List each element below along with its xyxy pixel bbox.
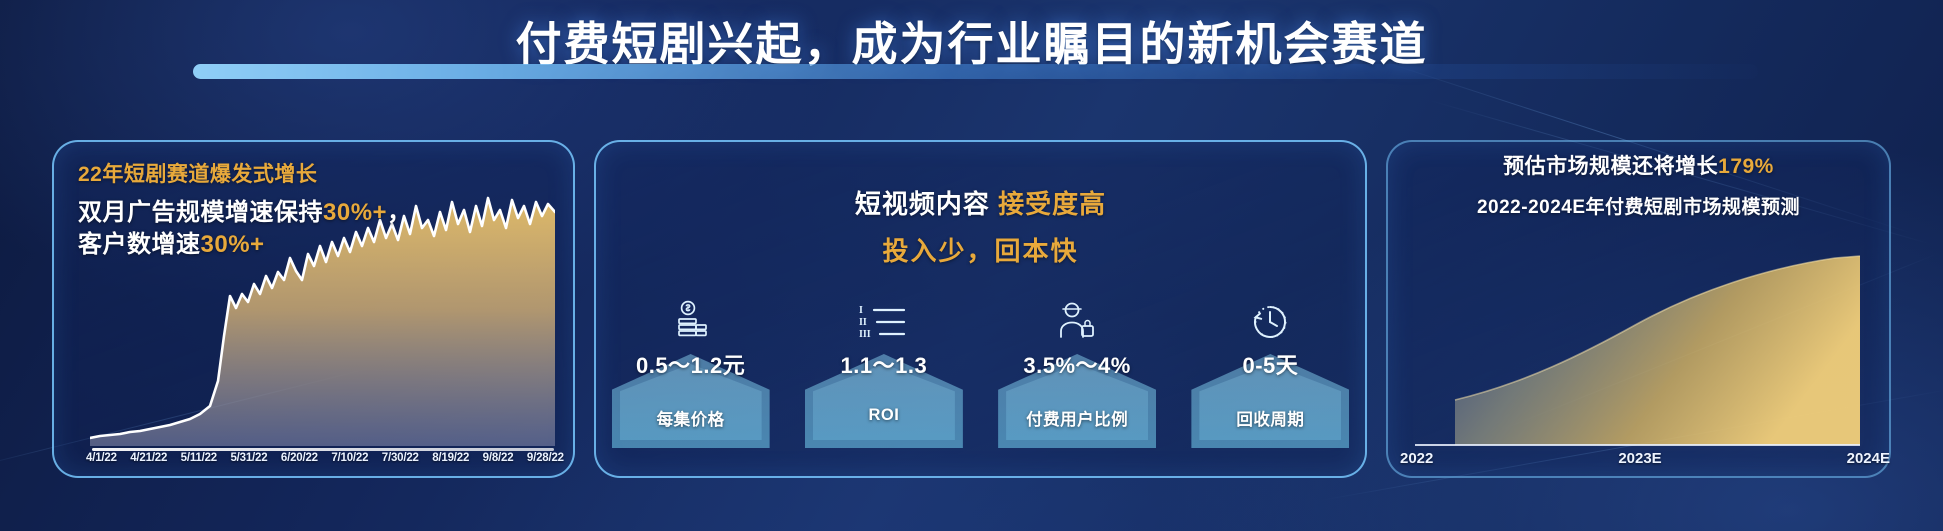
stat-value: 0.5～1.2元: [594, 348, 787, 380]
right-area-chart: [1415, 250, 1860, 445]
svg-text:II: II: [859, 317, 867, 328]
coins-icon: [594, 298, 787, 344]
middle-headline-2: 投入少，回本快: [594, 231, 1367, 268]
left-stat-line-2: 客户数增速30%+: [78, 229, 538, 261]
x-tick: 2023E: [1618, 450, 1661, 467]
right-chart-x-axis: 2022 2023E 2024E: [1400, 450, 1890, 467]
x-tick: 9/8/22: [483, 452, 514, 464]
right-line1-highlight: 179%: [1718, 155, 1774, 178]
right-panel-text: 预估市场规模还将增长179% 2022-2024E年付费短剧市场规模预测: [1386, 150, 1891, 219]
x-tick: 5/11/22: [181, 452, 217, 464]
svg-text:III: III: [859, 329, 871, 340]
right-line1-prefix: 预估市场规模还将增长: [1503, 155, 1718, 178]
svg-text:I: I: [859, 305, 863, 316]
left-panel-text: 22年短剧赛道爆发式增长 双月广告规模增速保持30%+， 客户数增速30%+: [78, 158, 538, 262]
right-chart-axis-line: [1415, 444, 1860, 446]
x-tick: 8/19/22: [432, 452, 469, 464]
x-tick: 4/1/22: [86, 452, 117, 464]
stat-card-roi[interactable]: I II III 1.1～1.3 ROI: [787, 296, 980, 456]
list-icon: I II III: [787, 298, 980, 344]
x-tick: 2024E: [1847, 450, 1890, 467]
right-chart-svg: [1415, 250, 1860, 445]
stat-card-paying-users[interactable]: 3.5%～4% 付费用户比例: [981, 296, 1174, 456]
left-chart-x-axis: 4/1/22 4/21/22 5/11/22 5/31/22 6/20/22 7…: [86, 452, 564, 464]
stat-label: 每集价格: [594, 406, 787, 430]
user-icon: [981, 298, 1174, 344]
x-tick: 7/10/22: [331, 452, 368, 464]
x-tick: 4/21/22: [130, 452, 167, 464]
stat-label: ROI: [787, 406, 980, 425]
stat-card-payback-period[interactable]: 0-5天 回收周期: [1174, 296, 1367, 456]
x-tick: 9/28/22: [527, 452, 564, 464]
left-line2-suffix: ，: [387, 199, 412, 226]
stats-row: 0.5～1.2元 每集价格 I II III 1.1～1.3 ROI: [594, 296, 1367, 456]
x-tick: 6/20/22: [281, 452, 318, 464]
left-stat-line-1: 双月广告规模增速保持30%+，: [78, 197, 538, 229]
left-headline: 22年短剧赛道爆发式增长: [78, 158, 538, 188]
left-line2-highlight: 30%+: [323, 199, 387, 226]
right-headline-2: 2022-2024E年付费短剧市场规模预测: [1386, 192, 1891, 219]
stat-value: 0-5天: [1174, 348, 1367, 380]
stat-value: 1.1～1.3: [787, 348, 980, 380]
middle-line1-gold: 接受度高: [998, 189, 1106, 219]
left-line3-prefix: 客户数增速: [78, 231, 201, 258]
title-underline-bar: [193, 64, 1758, 79]
right-chart-area: [1455, 256, 1860, 445]
left-chart-axis-line: [92, 448, 554, 451]
stat-card-price[interactable]: 0.5～1.2元 每集价格: [594, 296, 787, 456]
middle-headline-1: 短视频内容 接受度高: [594, 184, 1367, 221]
stat-label: 付费用户比例: [981, 406, 1174, 430]
right-headline-1: 预估市场规模还将增长179%: [1386, 150, 1891, 180]
stat-value: 3.5%～4%: [981, 348, 1174, 380]
x-tick: 5/31/22: [230, 452, 267, 464]
stat-label: 回收周期: [1174, 406, 1367, 430]
x-tick: 7/30/22: [382, 452, 419, 464]
left-line2-prefix: 双月广告规模增速保持: [78, 199, 323, 226]
middle-panel-text: 短视频内容 接受度高 投入少，回本快: [594, 184, 1367, 268]
x-tick: 2022: [1400, 450, 1433, 467]
middle-line1-white: 短视频内容: [855, 189, 990, 219]
left-line3-highlight: 30%+: [201, 231, 265, 258]
clock-icon: [1174, 298, 1367, 344]
